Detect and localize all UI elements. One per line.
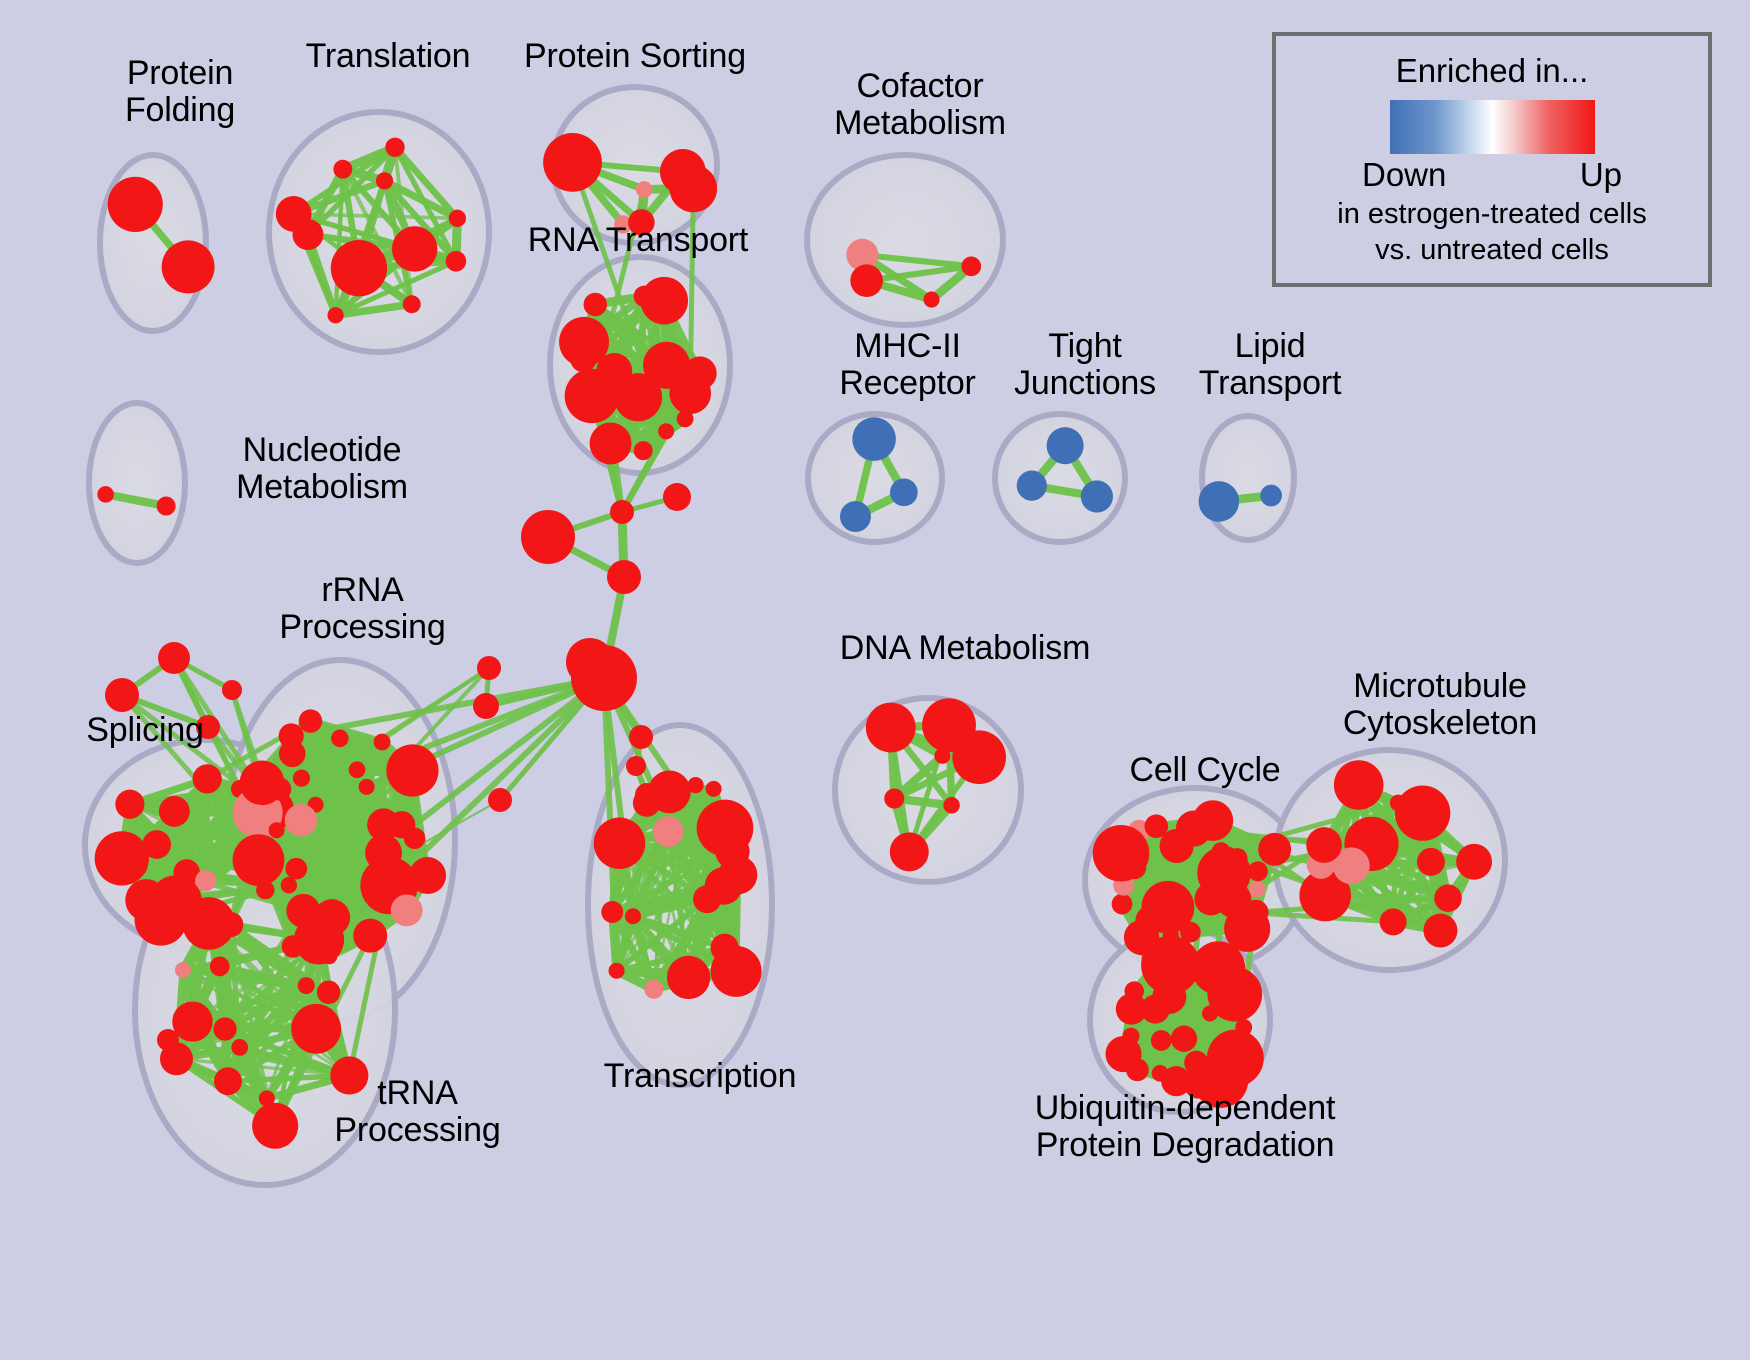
- graph-node: [571, 645, 637, 711]
- graph-node: [1456, 844, 1492, 880]
- legend-panel: Enriched in... Down Up in estrogen-treat…: [1272, 32, 1712, 287]
- graph-node: [1199, 481, 1240, 522]
- graph-node: [644, 980, 663, 999]
- graph-node: [1047, 427, 1084, 464]
- graph-node: [134, 893, 187, 946]
- graph-node: [543, 133, 602, 192]
- graph-node: [175, 962, 191, 978]
- legend-down-label: Down: [1362, 156, 1446, 194]
- graph-node: [291, 1004, 341, 1054]
- graph-node: [1136, 906, 1164, 934]
- cluster-label-trna-processing: tRNA Processing: [305, 1075, 530, 1148]
- graph-node: [240, 761, 285, 806]
- graph-node: [222, 680, 242, 700]
- network-diagram-canvas: Protein FoldingTranslationProtein Sortin…: [0, 0, 1750, 1360]
- graph-node: [115, 790, 144, 819]
- cluster-label-dna-metabolism: DNA Metabolism: [815, 630, 1115, 667]
- graph-node: [294, 915, 344, 965]
- cluster-label-microtubule-cytoskeleton: Microtubule Cytoskeleton: [1300, 668, 1580, 741]
- graph-node: [660, 149, 706, 195]
- cluster-label-protein-sorting: Protein Sorting: [495, 38, 775, 75]
- graph-node: [130, 858, 148, 876]
- graph-node: [162, 240, 215, 293]
- cluster-label-transcription: Transcription: [575, 1058, 825, 1095]
- graph-node: [943, 797, 959, 813]
- graph-node: [108, 177, 163, 232]
- graph-node: [884, 788, 904, 808]
- graph-node: [961, 256, 981, 276]
- graph-node: [610, 500, 634, 524]
- graph-node: [142, 830, 171, 859]
- legend-title: Enriched in...: [1276, 52, 1708, 90]
- graph-node: [1417, 848, 1445, 876]
- cluster-label-rrna-processing: rRNA Processing: [245, 572, 480, 645]
- graph-node: [1334, 760, 1384, 810]
- graph-node: [386, 744, 438, 796]
- graph-node: [210, 957, 230, 977]
- graph-node: [1181, 956, 1203, 978]
- cluster-label-protein-folding: Protein Folding: [80, 55, 280, 128]
- graph-node: [269, 822, 285, 838]
- graph-node: [1202, 1006, 1218, 1022]
- graph-node: [353, 919, 387, 953]
- graph-node: [392, 226, 437, 271]
- graph-node: [367, 808, 400, 841]
- graph-node: [667, 956, 710, 999]
- graph-node: [182, 897, 235, 950]
- graph-node: [157, 1029, 179, 1051]
- graph-node: [158, 642, 190, 674]
- graph-node: [97, 486, 114, 503]
- graph-node: [281, 877, 297, 893]
- graph-node: [1380, 908, 1407, 935]
- cluster-label-rna-transport: RNA Transport: [498, 222, 778, 259]
- graph-node: [1249, 881, 1266, 898]
- graph-node: [259, 1090, 275, 1106]
- graph-node: [157, 497, 176, 516]
- graph-node: [1235, 1019, 1252, 1036]
- graph-node: [252, 1103, 298, 1149]
- graph-node: [488, 788, 512, 812]
- graph-node: [866, 703, 916, 753]
- graph-node: [231, 1039, 248, 1056]
- graph-node: [890, 478, 918, 506]
- graph-node: [629, 725, 653, 749]
- graph-node: [636, 181, 653, 198]
- graph-node: [473, 693, 499, 719]
- graph-node: [1122, 1028, 1139, 1045]
- graph-node: [1423, 914, 1457, 948]
- graph-node: [658, 423, 674, 439]
- cluster-label-translation: Translation: [278, 38, 498, 75]
- cluster-hull-nucleotide-metabolism: [89, 403, 185, 563]
- legend-endpoints: Down Up: [1362, 156, 1622, 194]
- graph-node: [159, 796, 190, 827]
- graph-node: [850, 264, 883, 297]
- graph-node: [715, 834, 750, 869]
- graph-node: [1194, 882, 1227, 915]
- graph-node: [1112, 894, 1133, 915]
- graph-node: [213, 1017, 236, 1040]
- cluster-label-splicing: Splicing: [55, 712, 235, 749]
- graph-node: [626, 756, 646, 776]
- graph-node: [446, 251, 467, 272]
- graph-node: [172, 1001, 212, 1041]
- graph-node: [663, 483, 691, 511]
- graph-node: [317, 981, 341, 1005]
- legend-color-gradient: [1390, 100, 1595, 154]
- graph-node: [584, 293, 607, 316]
- graph-node: [1258, 833, 1291, 866]
- graph-node: [1171, 1026, 1197, 1052]
- graph-node: [298, 977, 315, 994]
- graph-node: [331, 730, 349, 748]
- graph-node: [634, 441, 653, 460]
- graph-node: [449, 210, 466, 227]
- legend-up-label: Up: [1580, 156, 1622, 194]
- graph-node: [1017, 471, 1047, 501]
- graph-node: [105, 678, 139, 712]
- graph-node: [477, 656, 501, 680]
- graph-node: [233, 834, 285, 886]
- graph-node: [359, 779, 375, 795]
- cluster-label-tight-junctions: Tight Junctions: [985, 328, 1185, 401]
- graph-node: [293, 770, 310, 787]
- graph-node: [376, 172, 393, 189]
- graph-node: [385, 138, 404, 157]
- graph-node: [852, 417, 896, 461]
- graph-node: [403, 295, 421, 313]
- cluster-label-cofactor-metabolism: Cofactor Metabolism: [795, 68, 1045, 141]
- graph-node: [279, 740, 306, 767]
- graph-node: [653, 816, 684, 847]
- graph-node: [193, 764, 222, 793]
- graph-node: [333, 160, 352, 179]
- graph-node: [559, 317, 609, 367]
- graph-node: [195, 870, 216, 891]
- graph-node: [285, 858, 307, 880]
- graph-node: [285, 804, 317, 836]
- cluster-label-lipid-transport: Lipid Transport: [1175, 328, 1365, 401]
- cluster-hull-cofactor-metabolism: [807, 155, 1003, 325]
- graph-node: [1395, 785, 1450, 840]
- legend-caption-line1: in estrogen-treated cells: [1276, 198, 1708, 230]
- graph-node: [635, 783, 659, 807]
- graph-node: [607, 560, 641, 594]
- graph-node: [706, 781, 722, 797]
- cluster-label-cell-cycle: Cell Cycle: [1105, 752, 1305, 789]
- graph-node: [1141, 995, 1170, 1024]
- graph-node: [609, 963, 625, 979]
- graph-node: [840, 501, 871, 532]
- graph-node: [327, 307, 343, 323]
- graph-node: [643, 342, 690, 389]
- graph-node: [1260, 485, 1282, 507]
- graph-node: [1122, 856, 1146, 880]
- graph-node: [923, 292, 939, 308]
- graph-node: [922, 698, 976, 752]
- graph-node: [1126, 1058, 1149, 1081]
- graph-node: [625, 908, 641, 924]
- graph-node: [1151, 1030, 1172, 1051]
- graph-node: [409, 857, 446, 894]
- graph-node: [590, 422, 632, 464]
- graph-node: [214, 1067, 242, 1095]
- graph-node: [890, 832, 929, 871]
- graph-node: [374, 734, 391, 751]
- graph-node: [594, 817, 646, 869]
- graph-node: [299, 709, 322, 732]
- graph-node: [521, 510, 575, 564]
- graph-node: [1081, 480, 1113, 512]
- graph-node: [677, 410, 694, 427]
- graph-node: [1160, 829, 1194, 863]
- cluster-label-nucleotide-metabolism: Nucleotide Metabolism: [197, 432, 447, 505]
- cluster-label-ubiquitin-protein-degradation: Ubiquitin-dependent Protein Degradation: [985, 1090, 1385, 1163]
- graph-node: [276, 196, 312, 232]
- graph-node: [1306, 827, 1342, 863]
- graph-node: [391, 894, 423, 926]
- graph-node: [1434, 884, 1462, 912]
- graph-node: [705, 867, 743, 905]
- graph-node: [1248, 861, 1268, 881]
- graph-node: [711, 934, 739, 962]
- legend-caption-line2: vs. untreated cells: [1276, 234, 1708, 266]
- graph-node: [634, 286, 655, 307]
- graph-node: [601, 901, 623, 923]
- graph-node: [331, 240, 387, 296]
- graph-node: [349, 761, 366, 778]
